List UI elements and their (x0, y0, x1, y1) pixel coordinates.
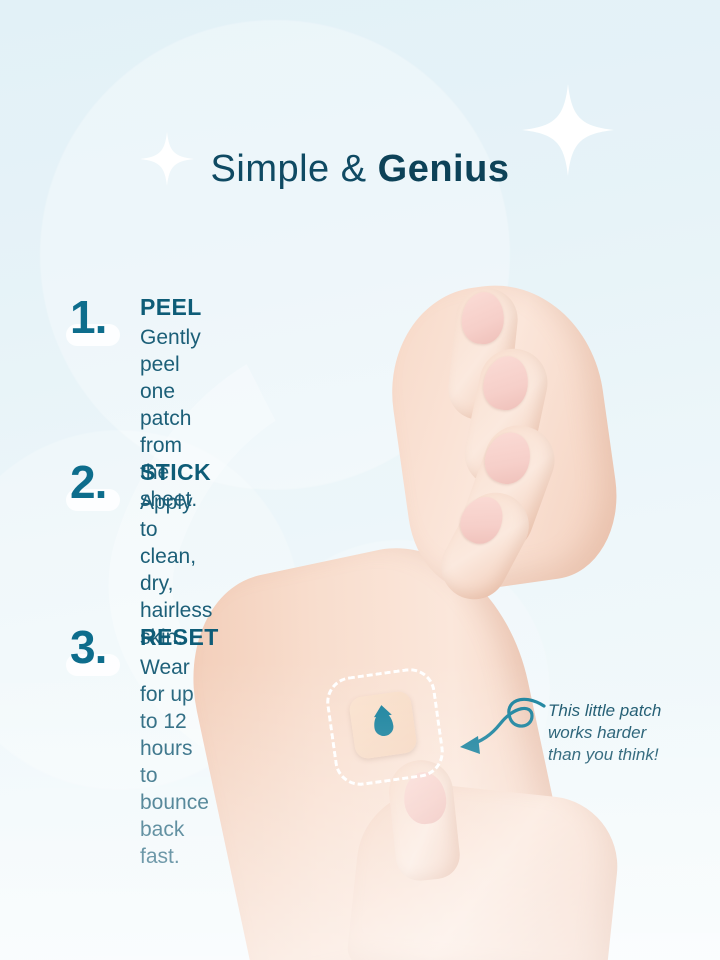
page-title-bold: Genius (378, 148, 510, 190)
step-title: RESET (140, 624, 219, 651)
page-title-plain: Simple & (211, 148, 378, 190)
page-title: Simple & Genius (0, 148, 720, 191)
bottom-glow-overlay (0, 660, 720, 960)
step-number: 1. (70, 290, 106, 344)
poster-canvas: Simple & Genius This little patch works … (0, 0, 720, 960)
step-title: PEEL (140, 294, 202, 321)
step-number: 2. (70, 455, 106, 509)
step-title: STICK (140, 459, 211, 486)
